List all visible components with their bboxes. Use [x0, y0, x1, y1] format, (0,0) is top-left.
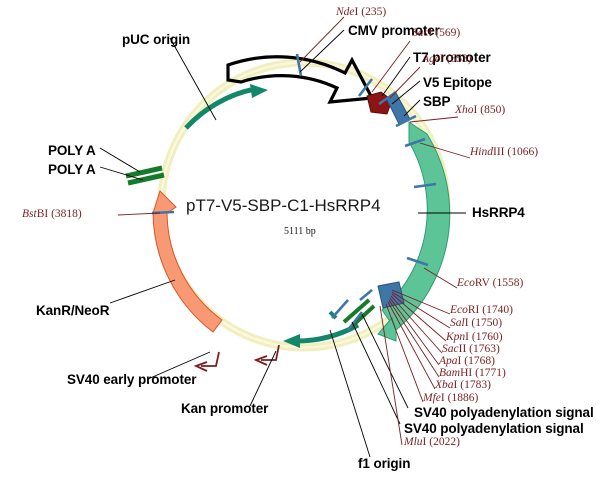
- site-enzyme-italic: Xho: [455, 104, 474, 116]
- site-enzyme-roman: I: [429, 27, 433, 39]
- site-label-ndei: NdeI (235): [336, 6, 386, 18]
- site-position: (235): [361, 6, 386, 18]
- page-title: pT7-V5-SBP-C1-HsRRP4: [186, 196, 381, 216]
- site-enzyme-italic: Bst: [22, 208, 37, 220]
- site-enzyme-italic: Eco: [457, 277, 475, 289]
- site-position: (1768): [464, 355, 495, 367]
- site-label-ecori: EcoRI (1740): [450, 304, 513, 316]
- site-enzyme-italic: Kpn: [446, 331, 465, 343]
- site-enzyme-roman: I: [423, 436, 427, 448]
- site-enzyme-italic: Nde: [336, 6, 355, 18]
- site-enzyme-italic: Bam: [439, 367, 460, 379]
- site-position: (850): [480, 104, 505, 116]
- site-position: (1886): [448, 392, 479, 404]
- site-enzyme-roman: II: [459, 343, 467, 355]
- site-enzyme-italic: Mfe: [423, 392, 441, 404]
- site-label-xhoi: XhoI (850): [455, 104, 505, 116]
- site-enzyme-roman: I: [440, 53, 444, 65]
- site-position: (1783): [460, 379, 491, 391]
- site-enzyme-roman: I: [465, 317, 469, 329]
- site-enzyme-italic: Hind: [470, 146, 493, 158]
- site-position: (653): [447, 53, 472, 65]
- feature-label-sv40-polya-1: SV40 polyadenylation signal: [414, 405, 594, 420]
- feature-label-kanr-neor: KanR/NeoR: [36, 303, 109, 318]
- site-label-apai: ApaI (1768): [439, 355, 495, 367]
- feature-label-v5-epitope: V5 Epitope: [423, 75, 492, 90]
- site-enzyme-roman: III: [493, 146, 505, 158]
- site-label-mfei: MfeI (1886): [423, 392, 478, 404]
- site-position: (2022): [429, 436, 460, 448]
- site-position: (1750): [471, 317, 502, 329]
- site-label-sali: SalI (1750): [450, 317, 502, 329]
- site-position: (569): [435, 27, 460, 39]
- feature-poly-a-blocks: [126, 168, 164, 183]
- plasmid-map: pT7-V5-SBP-C1-HsRRP4 5111 bp pUC origin …: [0, 0, 608, 501]
- site-label-bamhi: BamHI (1771): [439, 367, 506, 379]
- feature-label-poly-a-1: POLY A: [48, 143, 96, 158]
- site-enzyme-roman: RV: [475, 277, 490, 289]
- site-enzyme-italic: Sal: [450, 317, 465, 329]
- site-position: (1760): [472, 331, 503, 343]
- site-position: (1740): [482, 304, 513, 316]
- site-enzyme-italic: Mlu: [404, 436, 423, 448]
- feature-label-sv40-early-promoter: SV40 early promoter: [67, 372, 196, 387]
- promoter-hook-arrows: [196, 345, 279, 371]
- site-position: (3818): [51, 208, 82, 220]
- site-label-saci: SacI (569): [412, 27, 460, 39]
- feature-label-poly-a-2: POLY A: [48, 162, 96, 177]
- site-enzyme-roman: I: [355, 6, 359, 18]
- feature-leader-lines: [100, 30, 466, 457]
- site-label-mlui: MluI (2022): [404, 436, 460, 448]
- site-enzyme-roman: I: [474, 104, 478, 116]
- site-enzyme-italic: Eco: [450, 304, 468, 316]
- site-position: (1771): [475, 367, 506, 379]
- feature-label-hsrrp4: HsRRP4: [472, 205, 525, 220]
- feature-label-kan-promoter: Kan promoter: [181, 401, 268, 416]
- site-enzyme-roman: I: [458, 355, 462, 367]
- plasmid-size: 5111 bp: [284, 226, 316, 237]
- site-label-hindiii: HindIII (1066): [470, 146, 538, 158]
- site-enzyme-roman: I: [441, 392, 445, 404]
- site-enzyme-italic: Age: [422, 53, 440, 65]
- site-enzyme-roman: BI: [37, 208, 49, 220]
- feature-label-puc-origin: pUC origin: [122, 32, 190, 47]
- site-label-sacii: SacII (1763): [442, 343, 500, 355]
- feature-label-sv40-polya-2: SV40 polyadenylation signal: [404, 421, 584, 436]
- site-enzyme-italic: Apa: [439, 355, 458, 367]
- site-enzyme-italic: Sac: [412, 27, 429, 39]
- site-label-bstbi: BstBI (3818): [22, 208, 82, 220]
- site-enzyme-roman: HI: [460, 367, 472, 379]
- site-enzyme-roman: I: [454, 379, 458, 391]
- feature-label-f1-origin: f1 origin: [358, 456, 410, 471]
- site-position: (1558): [493, 277, 524, 289]
- site-label-kpni: KpnI (1760): [446, 331, 503, 343]
- site-label-xbai: XbaI (1783): [435, 379, 491, 391]
- site-enzyme-italic: Sac: [442, 343, 459, 355]
- site-position: (1763): [469, 343, 500, 355]
- site-label-ecorv: EcoRV (1558): [457, 277, 523, 289]
- feature-label-sbp: SBP: [423, 94, 450, 109]
- site-position: (1066): [507, 146, 538, 158]
- site-enzyme-italic: Xba: [435, 379, 454, 391]
- site-label-agei: AgeI (653): [422, 53, 472, 65]
- site-enzyme-roman: I: [465, 331, 469, 343]
- site-enzyme-roman: RI: [468, 304, 480, 316]
